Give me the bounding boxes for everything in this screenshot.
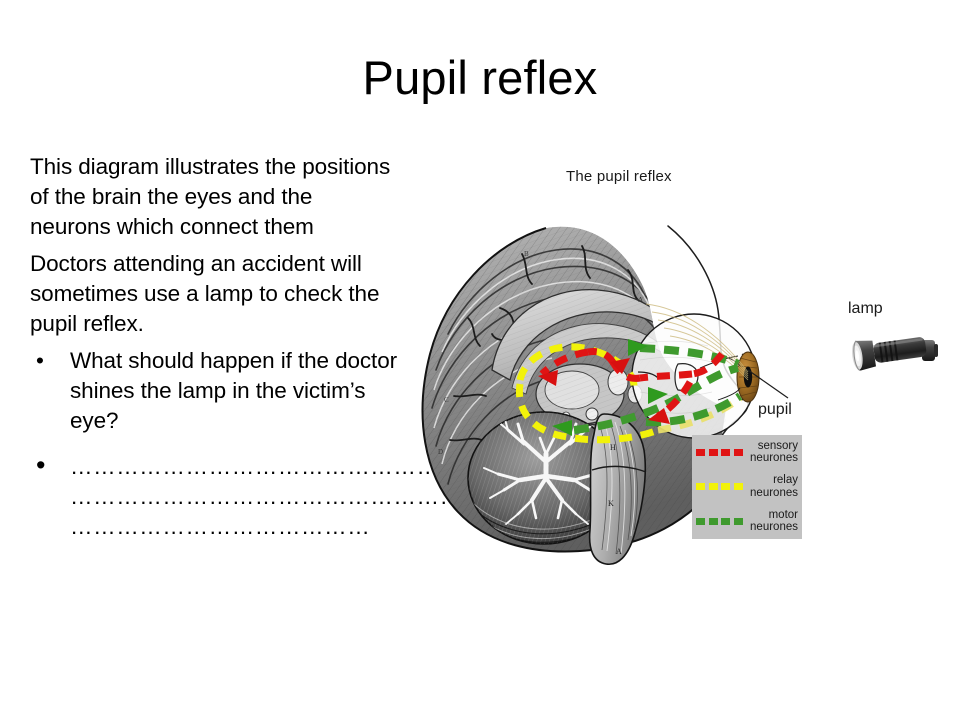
- paragraph-1: This diagram illustrates the positions o…: [30, 152, 398, 242]
- bullet-item-answer: • …………………………………………… ……………………………………………. ……: [30, 450, 398, 542]
- body-text-block: This diagram illustrates the positions o…: [30, 152, 398, 542]
- bullet-item-question: • What should happen if the doctor shine…: [30, 346, 398, 436]
- bullet-marker-icon-2: •: [30, 450, 70, 480]
- svg-text:D: D: [438, 448, 443, 456]
- svg-text:C: C: [444, 396, 449, 404]
- lamp-flashlight-image: [844, 321, 940, 383]
- bullet-question-text: What should happen if the doctor shines …: [70, 346, 398, 436]
- pupil-reflex-diagram: The pupil reflex: [396, 158, 956, 578]
- sensory-neurone-dash-icon: [696, 449, 738, 456]
- diagram-legend: sensory neurones relay neurones moto: [692, 435, 802, 539]
- legend-row-motor: motor neurones: [692, 504, 802, 539]
- svg-text:A: A: [638, 296, 643, 304]
- page-title: Pupil reflex: [0, 52, 960, 104]
- lamp-label: lamp: [848, 300, 883, 318]
- legend-label-relay-line2: neurones: [738, 487, 798, 500]
- slide-canvas: Pupil reflex This diagram illustrates th…: [0, 0, 960, 720]
- svg-text:A: A: [616, 547, 622, 556]
- paragraph-2: Doctors attending an accident will somet…: [30, 249, 398, 339]
- legend-row-relay: relay neurones: [692, 470, 802, 505]
- bullet-marker-icon: •: [30, 346, 70, 376]
- legend-label-motor-line1: motor: [738, 509, 798, 522]
- relay-neurone-dash-icon: [696, 483, 738, 490]
- pupil-label: pupil: [758, 401, 792, 419]
- legend-label-motor-line2: neurones: [738, 521, 798, 534]
- legend-row-sensory: sensory neurones: [692, 435, 802, 470]
- legend-label-sensory-line1: sensory: [738, 440, 798, 453]
- legend-label-relay-line1: relay: [738, 474, 798, 487]
- svg-text:H: H: [610, 443, 616, 452]
- svg-text:B: B: [524, 250, 529, 258]
- answer-line-3: …………………………………: [70, 514, 370, 539]
- svg-text:K: K: [608, 499, 614, 508]
- motor-neurone-dash-icon: [696, 518, 738, 525]
- legend-label-sensory-line2: neurones: [738, 452, 798, 465]
